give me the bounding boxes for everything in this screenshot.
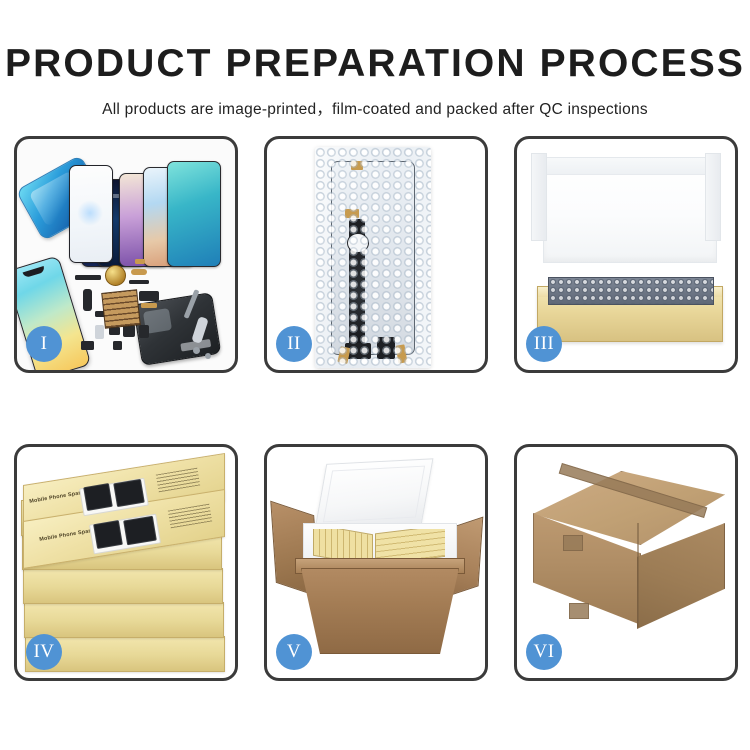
retail-box xyxy=(23,568,223,604)
white-box-lid xyxy=(543,157,717,263)
yellow-box-column xyxy=(313,529,373,559)
speaker-part xyxy=(105,265,126,286)
yellow-box-column xyxy=(375,529,445,559)
phone-artwork xyxy=(123,516,157,546)
spare-part xyxy=(83,289,92,311)
connector-chip-part xyxy=(101,289,141,329)
process-step-5[interactable]: V xyxy=(264,444,488,681)
spare-part xyxy=(129,280,149,284)
process-step-4[interactable]: Mobile Phone Spare Parts Mobile Phone Sp… xyxy=(14,444,238,681)
lid-side-flap xyxy=(705,153,721,241)
process-step-2[interactable]: II xyxy=(264,136,488,373)
retail-box xyxy=(24,602,224,638)
bubble-wrap-bag xyxy=(315,147,431,368)
spare-part xyxy=(75,275,101,280)
spare-part xyxy=(139,325,149,338)
step-badge-3: III xyxy=(526,326,562,362)
carton-body xyxy=(301,568,459,654)
spare-part xyxy=(123,325,135,337)
carton-corner-seam xyxy=(637,523,639,627)
step-badge-2: II xyxy=(276,326,312,362)
page-subtitle: All products are image-printed，film-coat… xyxy=(0,83,750,119)
foam-lid xyxy=(315,458,434,529)
spare-part xyxy=(135,259,145,264)
step-badge-5: V xyxy=(276,634,312,670)
spare-part xyxy=(131,269,147,275)
step-badge-6: VI xyxy=(526,634,562,670)
phone-artwork xyxy=(113,479,145,507)
kraft-box-tray xyxy=(537,286,723,342)
spare-part xyxy=(95,325,104,339)
spare-part xyxy=(141,303,157,308)
tape-tab xyxy=(569,603,589,619)
phone-artwork xyxy=(93,520,123,549)
spare-part xyxy=(113,341,122,350)
spare-part xyxy=(139,291,159,301)
product-preparation-infographic: PRODUCT PREPARATION PROCESS All products… xyxy=(0,0,750,750)
bubble-wrapped-contents xyxy=(548,277,714,305)
spare-part xyxy=(81,341,94,350)
phone-artwork xyxy=(83,483,113,511)
packed-yellow-boxes xyxy=(313,529,445,559)
tempered-glass-film xyxy=(69,165,113,263)
step-badge-4: IV xyxy=(26,634,62,670)
process-step-grid: I II xyxy=(14,136,738,681)
process-step-3[interactable]: III xyxy=(514,136,738,373)
lid-side-flap xyxy=(531,153,547,241)
tape-tab xyxy=(563,535,583,551)
header: PRODUCT PREPARATION PROCESS All products… xyxy=(0,0,750,119)
screw-part xyxy=(205,353,211,359)
phone-device xyxy=(167,161,221,267)
screw-part xyxy=(193,347,200,354)
process-step-1[interactable]: I xyxy=(14,136,238,373)
page-title: PRODUCT PREPARATION PROCESS xyxy=(0,0,750,83)
bubble-texture xyxy=(315,147,431,368)
step-badge-1: I xyxy=(26,326,62,362)
process-step-6[interactable]: VI xyxy=(514,444,738,681)
